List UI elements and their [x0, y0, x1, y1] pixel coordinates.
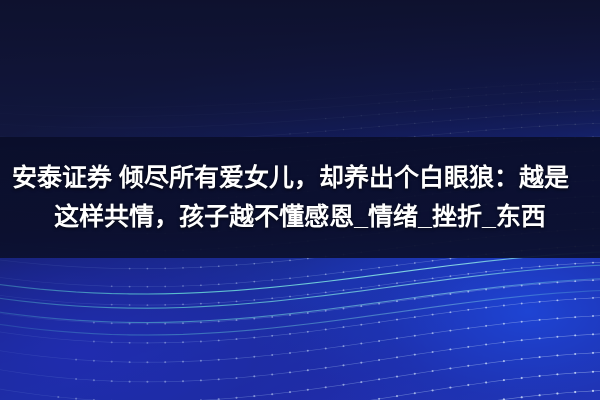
headline-line-1: 安泰证券 倾尽所有爱女儿，却养出个白眼狼：越是 — [10, 161, 569, 195]
headline-line-2: 这样共情，孩子越不懂感恩_情绪_挫折_东西 — [54, 200, 546, 234]
news-thumbnail-banner: 安泰证券 倾尽所有爱女儿，却养出个白眼狼：越是 这样共情，孩子越不懂感恩_情绪_… — [0, 0, 600, 400]
headline-block: 安泰证券 倾尽所有爱女儿，却养出个白眼狼：越是 这样共情，孩子越不懂感恩_情绪_… — [0, 137, 600, 258]
